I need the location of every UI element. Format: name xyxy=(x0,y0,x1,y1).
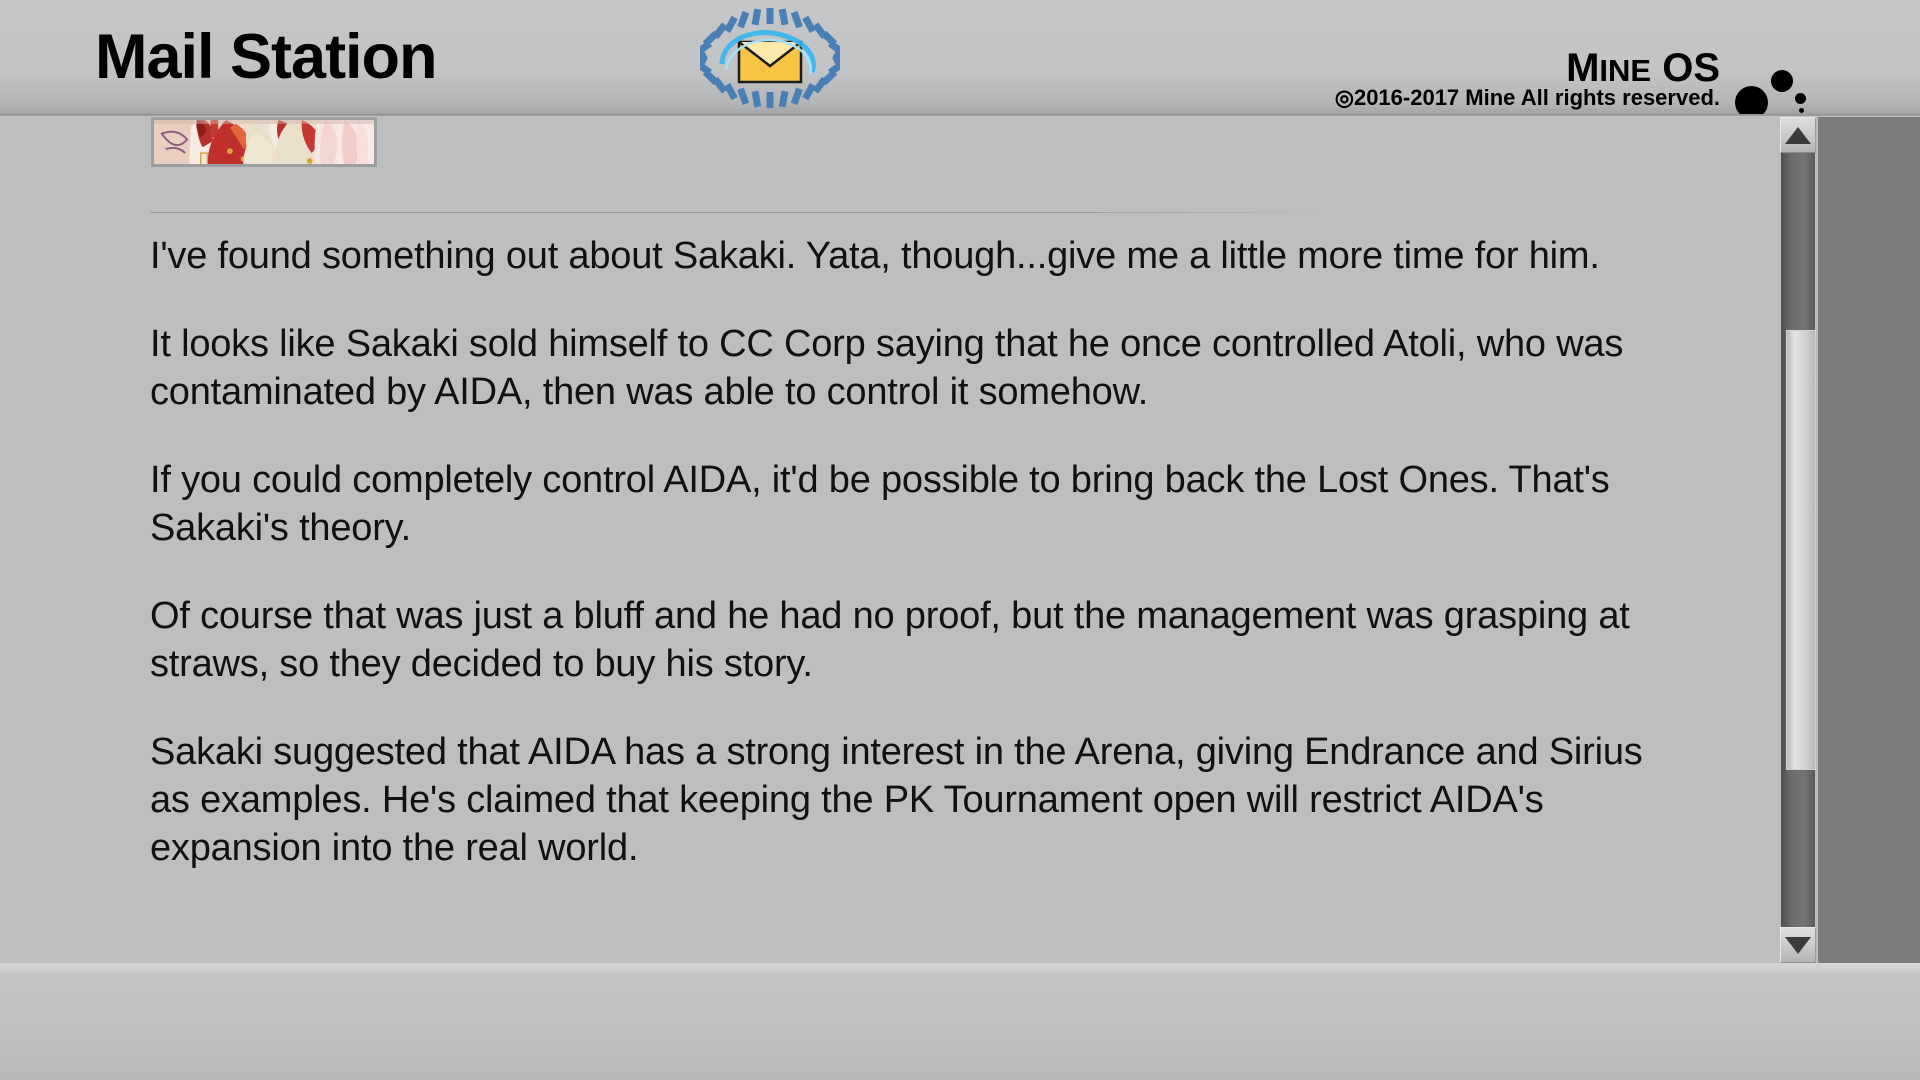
copyright-text: ◎2016-2017 Mine All rights reserved. xyxy=(1335,87,1720,109)
mail-station-screen: Mail Station xyxy=(0,0,1920,1080)
os-name: MINE OS xyxy=(1566,48,1720,88)
app-header: Mail Station xyxy=(0,0,1920,116)
mail-paragraph: It looks like Sakaki sold himself to CC … xyxy=(150,320,1670,416)
character-portrait-thumbnail xyxy=(151,117,377,167)
content-divider xyxy=(150,212,1335,213)
footer-bar: B : Return xyxy=(0,973,1920,1080)
page-title: Mail Station xyxy=(95,26,437,89)
scrollbar-thumb[interactable] xyxy=(1786,330,1816,770)
triangle-down-icon xyxy=(1785,937,1811,954)
mail-paragraph: Of course that was just a bluff and he h… xyxy=(150,592,1670,688)
scroll-up-button[interactable] xyxy=(1780,117,1816,153)
vertical-scrollbar[interactable] xyxy=(1778,117,1818,963)
header-divider xyxy=(0,114,1920,116)
mail-paragraph: If you could completely control AIDA, it… xyxy=(150,456,1670,552)
right-panel-filler xyxy=(1818,117,1920,963)
mail-message-body: I've found something out about Sakaki. Y… xyxy=(150,232,1670,872)
mail-paragraph: Sakaki suggested that AIDA has a strong … xyxy=(150,728,1670,872)
mail-envelope-radiant-icon xyxy=(700,4,840,112)
mail-content-area: I've found something out about Sakaki. Y… xyxy=(0,117,1778,963)
scroll-down-button[interactable] xyxy=(1780,927,1816,963)
mail-paragraph: I've found something out about Sakaki. Y… xyxy=(150,232,1670,280)
dot-cluster-icon xyxy=(1735,70,1805,112)
brand-block: MINE OS ◎2016-2017 Mine All rights reser… xyxy=(1220,22,1920,112)
scrollbar-track[interactable] xyxy=(1781,153,1815,927)
triangle-up-icon xyxy=(1785,127,1811,144)
footer-separator xyxy=(0,963,1920,973)
